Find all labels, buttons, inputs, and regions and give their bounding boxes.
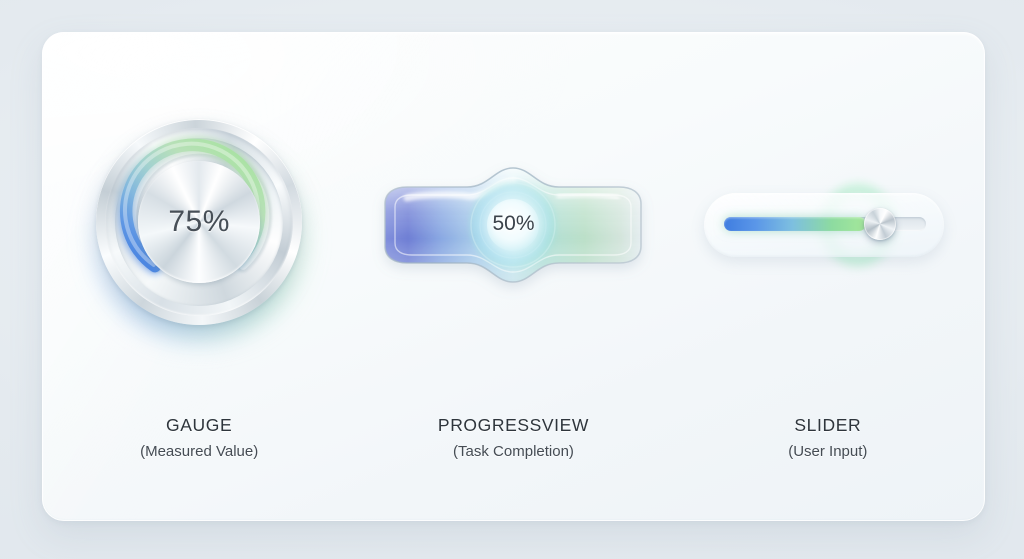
slider-caption-title: SLIDER — [788, 417, 867, 435]
progressview-caption-subtitle: (Task Completion) — [438, 444, 589, 459]
gauge-caption-subtitle: (Measured Value) — [140, 444, 258, 459]
progressview-value-text: 50% — [363, 212, 663, 236]
gauge-bezel-outer: 75% — [96, 119, 302, 325]
slider-caption-subtitle: (User Input) — [788, 444, 867, 459]
widget-slider: SLIDER (User Input) — [671, 32, 985, 521]
slider-fill — [724, 217, 866, 231]
progressview-caption: PROGRESSVIEW (Task Completion) — [438, 417, 589, 459]
gauge-stage: 75% — [42, 32, 356, 417]
widget-progressview: 50% PROGRESSVIEW (Task Completion) — [356, 32, 670, 521]
gauge-caption-title: GAUGE — [140, 417, 258, 435]
slider-caption: SLIDER (User Input) — [788, 417, 867, 459]
gauge-caption: GAUGE (Measured Value) — [140, 417, 258, 459]
progressview-highlight-right — [559, 194, 617, 197]
screen: 75% GAUGE (Measured Value) — [0, 0, 1024, 559]
progressview-control[interactable]: 50% — [363, 160, 663, 290]
progressview-caption-title: PROGRESSVIEW — [438, 417, 589, 435]
widget-row: 75% GAUGE (Measured Value) — [42, 32, 985, 521]
gauge-face: 75% — [138, 161, 260, 283]
gauge-control[interactable]: 75% — [84, 110, 314, 340]
gauge-value-text: 75% — [168, 205, 230, 239]
slider-stage — [671, 32, 985, 417]
progressview-stage: 50% — [356, 32, 670, 417]
slider-control[interactable] — [698, 165, 958, 285]
widget-gauge: 75% GAUGE (Measured Value) — [42, 32, 356, 521]
slider-knob[interactable] — [864, 208, 896, 240]
